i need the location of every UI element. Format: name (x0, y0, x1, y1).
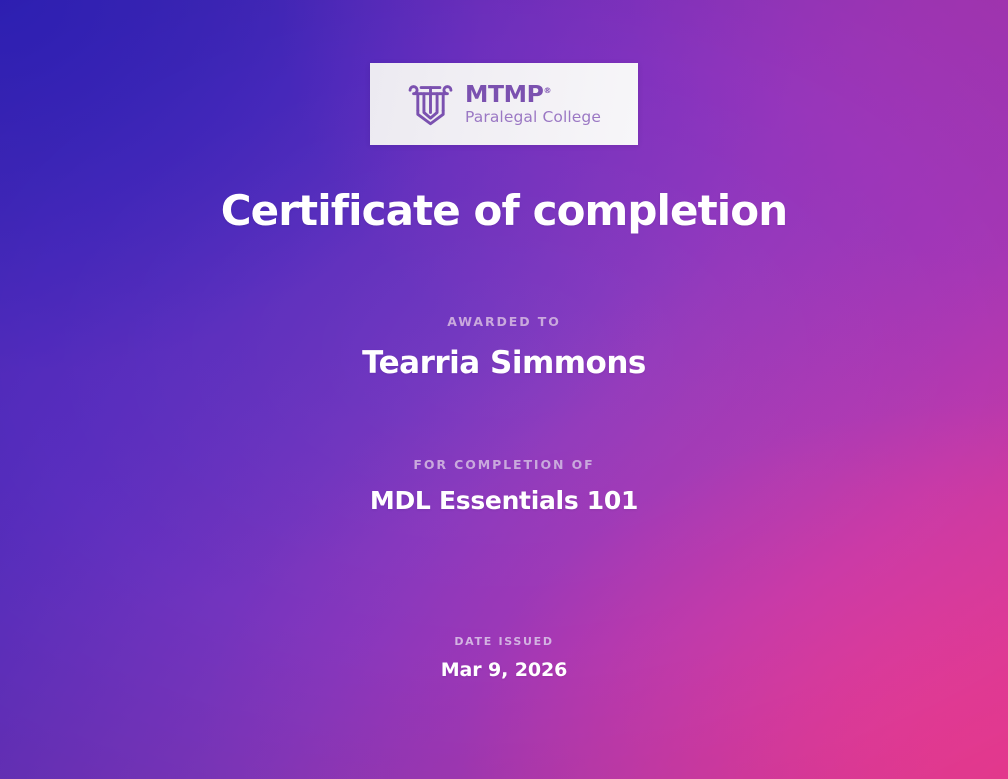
course-label: FOR COMPLETION OF (0, 457, 1008, 472)
date-issued-section: DATE ISSUED Mar 9, 2026 (0, 635, 1008, 681)
brand-wordmark: MTMP® (465, 83, 601, 107)
brand-logo-card: MTMP® Paralegal College (370, 63, 638, 145)
mtmp-pillar-logo-icon (407, 81, 454, 127)
date-issued-value: Mar 9, 2026 (0, 659, 1008, 681)
course-section: FOR COMPLETION OF MDL Essentials 101 (0, 457, 1008, 515)
registered-trademark-icon: ® (543, 86, 551, 95)
brand-subtitle: Paralegal College (465, 110, 601, 126)
brand-wordmark-text: MTMP (465, 80, 543, 108)
recipient-name: Tearria Simmons (0, 345, 1008, 381)
awarded-to-section: AWARDED TO Tearria Simmons (0, 314, 1008, 381)
brand-logo-text: MTMP® Paralegal College (465, 83, 601, 126)
awarded-to-label: AWARDED TO (0, 314, 1008, 329)
course-name: MDL Essentials 101 (0, 486, 1008, 515)
certificate-canvas: MTMP® Paralegal College Certificate of c… (0, 0, 1008, 779)
date-issued-label: DATE ISSUED (0, 635, 1008, 648)
page-title: Certificate of completion (0, 186, 1008, 235)
